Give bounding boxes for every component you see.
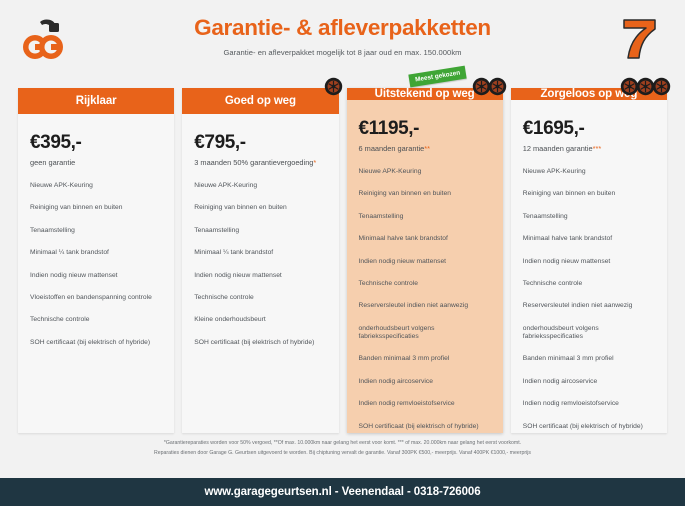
package-name: Rijklaar bbox=[76, 95, 117, 107]
card-header: Uitstekend op weg bbox=[347, 88, 503, 100]
warranty-packages-page: Garantie- & afleverpakketten Garantie- e… bbox=[0, 0, 685, 514]
package-card-goed-op-weg[interactable]: Goed op weg €795,- 3 maanden 50% garanti… bbox=[182, 88, 338, 433]
list-item: Reiniging van binnen en buiten bbox=[194, 204, 330, 212]
list-item: Technische controle bbox=[523, 280, 659, 288]
list-item: Technische controle bbox=[30, 316, 166, 324]
list-item: onderhoudsbeurt volgens fabrieksspecific… bbox=[359, 325, 495, 342]
package-price: €395,- bbox=[30, 132, 174, 154]
feature-list: Nieuwe APK-Keuring Reiniging van binnen … bbox=[18, 182, 174, 361]
package-name: Zorgeloos op weg bbox=[540, 88, 637, 100]
list-item: Indien nodig aircoservice bbox=[359, 378, 495, 386]
package-name: Goed op weg bbox=[225, 95, 296, 107]
list-item: Indien nodig nieuw mattenset bbox=[194, 272, 330, 280]
footer-contact-text[interactable]: www.garagegeurtsen.nl - Veenendaal - 031… bbox=[204, 486, 480, 498]
list-item: Minimaal ¼ tank brandstof bbox=[30, 249, 166, 257]
warranty-stars: *** bbox=[593, 144, 602, 153]
warranty-text: 3 maanden 50% garantievergoeding bbox=[194, 158, 313, 167]
package-card-zorgeloos-op-weg[interactable]: Zorgeloos op weg €1695,- 12 maanden gara… bbox=[511, 88, 667, 433]
package-warranty: geen garantie bbox=[30, 158, 174, 167]
footnote-line-2: Reparaties dienen door Garage G. Geurtse… bbox=[70, 450, 615, 458]
card-header: Rijklaar bbox=[18, 88, 174, 114]
card-header: Goed op weg bbox=[182, 88, 338, 114]
list-item: Banden minimaal 3 mm profiel bbox=[523, 355, 659, 363]
list-item: Reserversleutel indien niet aanwezig bbox=[523, 302, 659, 310]
list-item: Reiniging van binnen en buiten bbox=[523, 190, 659, 198]
list-item: Indien nodig nieuw mattenset bbox=[359, 258, 495, 266]
list-item: SOH certificaat (bij elektrisch of hybri… bbox=[359, 423, 495, 431]
list-item: Technische controle bbox=[359, 280, 495, 288]
feature-list: Nieuwe APK-Keuring Reiniging van binnen … bbox=[511, 168, 667, 445]
footnotes: *Garantiereparaties worden voor 50% verg… bbox=[0, 440, 685, 460]
feature-list: Nieuwe APK-Keuring Reiniging van binnen … bbox=[182, 182, 338, 361]
list-item: Banden minimaal 3 mm profiel bbox=[359, 355, 495, 363]
list-item: Reserversleutel indien niet aanwezig bbox=[359, 302, 495, 310]
list-item: Kleine onderhoudsbeurt bbox=[194, 316, 330, 324]
package-warranty: 12 maanden garantie*** bbox=[523, 144, 667, 153]
list-item: SOH certificaat (bij elektrisch of hybri… bbox=[194, 339, 330, 347]
list-item: Indien nodig aircoservice bbox=[523, 378, 659, 386]
feature-list: Nieuwe APK-Keuring Reiniging van binnen … bbox=[347, 168, 503, 445]
title-block: Garantie- & afleverpakketten Garantie- e… bbox=[0, 14, 685, 57]
package-card-rijklaar[interactable]: Rijklaar €395,- geen garantie Nieuwe APK… bbox=[18, 88, 174, 433]
warranty-stars: ** bbox=[424, 144, 430, 153]
footnote-line-1: *Garantiereparaties worden voor 50% verg… bbox=[70, 440, 615, 448]
list-item: Tenaamstelling bbox=[523, 213, 659, 221]
package-warranty: 3 maanden 50% garantievergoeding* bbox=[194, 158, 338, 167]
list-item: Tenaamstelling bbox=[194, 227, 330, 235]
list-item: Nieuwe APK-Keuring bbox=[359, 168, 495, 176]
list-item: Nieuwe APK-Keuring bbox=[30, 182, 166, 190]
list-item: Indien nodig remvloeistofservice bbox=[359, 400, 495, 408]
list-item: Minimaal halve tank brandstof bbox=[359, 235, 495, 243]
warranty-text: geen garantie bbox=[30, 158, 75, 167]
list-item: SOH certificaat (bij elektrisch of hybri… bbox=[523, 423, 659, 431]
list-item: Indien nodig remvloeistofservice bbox=[523, 400, 659, 408]
package-cards: Rijklaar €395,- geen garantie Nieuwe APK… bbox=[18, 88, 667, 433]
footer-strip bbox=[0, 506, 685, 514]
page-subtitle: Garantie- en afleverpakket mogelijk tot … bbox=[0, 48, 685, 57]
list-item: Minimaal ¼ tank brandstof bbox=[194, 249, 330, 257]
list-item: onderhoudsbeurt volgens fabrieksspecific… bbox=[523, 325, 659, 342]
warranty-stars: * bbox=[313, 158, 316, 167]
package-warranty: 6 maanden garantie** bbox=[359, 144, 503, 153]
package-price: €1695,- bbox=[523, 118, 667, 140]
package-price: €1195,- bbox=[359, 118, 503, 140]
seven-logo-icon bbox=[615, 12, 667, 62]
page-title: Garantie- & afleverpakketten bbox=[0, 14, 685, 41]
package-name: Uitstekend op weg bbox=[375, 88, 475, 100]
list-item: Nieuwe APK-Keuring bbox=[523, 168, 659, 176]
warranty-text: 12 maanden garantie bbox=[523, 144, 593, 153]
list-item: Nieuwe APK-Keuring bbox=[194, 182, 330, 190]
package-price: €795,- bbox=[194, 132, 338, 154]
list-item: SOH certificaat (bij elektrisch of hybri… bbox=[30, 339, 166, 347]
list-item: Reiniging van binnen en buiten bbox=[359, 190, 495, 198]
footer-bar: www.garagegeurtsen.nl - Veenendaal - 031… bbox=[0, 478, 685, 506]
list-item: Indien nodig nieuw mattenset bbox=[523, 258, 659, 266]
list-item: Vloeistoffen en bandenspanning controle bbox=[30, 294, 166, 302]
list-item: Tenaamstelling bbox=[359, 213, 495, 221]
list-item: Reiniging van binnen en buiten bbox=[30, 204, 166, 212]
package-card-uitstekend-op-weg[interactable]: Meest gekozen bbox=[347, 88, 503, 433]
page-header: Garantie- & afleverpakketten Garantie- e… bbox=[0, 0, 685, 78]
list-item: Minimaal halve tank brandstof bbox=[523, 235, 659, 243]
warranty-text: 6 maanden garantie bbox=[359, 144, 425, 153]
list-item: Indien nodig nieuw mattenset bbox=[30, 272, 166, 280]
card-header: Zorgeloos op weg bbox=[511, 88, 667, 100]
list-item: Tenaamstelling bbox=[30, 227, 166, 235]
list-item: Technische controle bbox=[194, 294, 330, 302]
